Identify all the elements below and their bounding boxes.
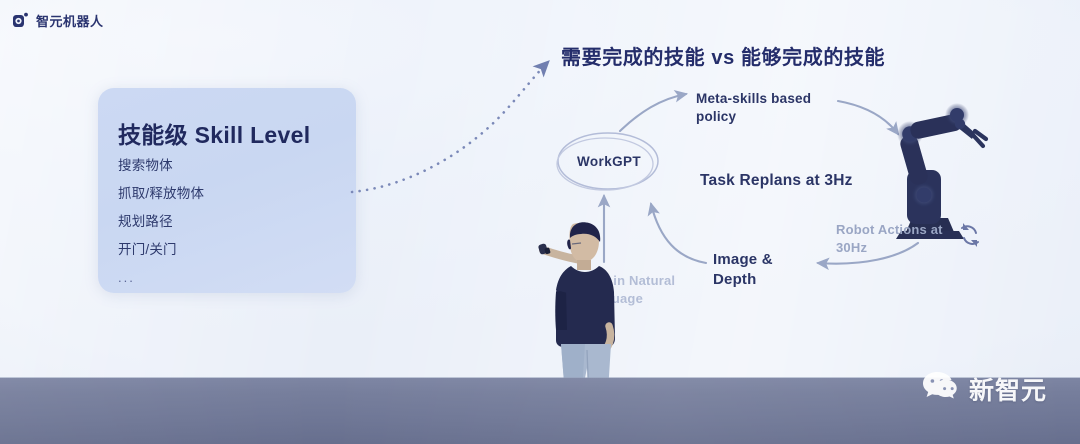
watermark: 新智元 [922,370,1047,407]
meta-skills-policy-label: Meta-skills based policy [696,90,836,125]
list-item: 抓取/释放物体 [118,182,204,202]
watermark-text: 新智元 [969,371,1047,407]
list-item: 搜索物体 [118,154,204,174]
robot-actions-line1: Robot Actions at [836,221,956,239]
image-depth-label: Image & Depth [713,250,773,291]
stage-floor-grain [0,378,1080,444]
slide-headline: 需要完成的技能 vs 能够完成的技能 [561,41,885,70]
image-depth-line2: Depth [713,270,773,290]
skill-card-list: 搜索物体 抓取/释放物体 规划路径 开门/关门 ... [118,154,204,285]
skill-card-title: 技能级 Skill Level [118,116,310,150]
brand-name: 智元机器人 [36,11,104,30]
meta-skills-policy-line1: Meta-skills based [696,90,836,108]
agibot-logo-icon [12,12,29,29]
task-replans-label: Task Replans at 3Hz [700,171,853,191]
image-depth-line1: Image & [713,250,773,270]
skill-level-card: 技能级 Skill Level 搜索物体 抓取/释放物体 规划路径 开门/关门 … [98,88,356,293]
list-item-ellipsis: ... [118,270,204,285]
robot-actions-line2: 30Hz [836,239,956,257]
brand-logo: 智元机器人 [12,11,104,30]
wechat-icon [922,370,962,407]
robot-actions-label: Robot Actions at 30Hz [836,221,956,256]
workgpt-label: WorkGPT [577,153,641,171]
slide-screenshot: 智元机器人 技能级 Skill Level 搜索物体 抓取/释放物体 规划路径 … [0,0,1080,444]
list-item: 开门/关门 [118,238,204,258]
list-item: 规划路径 [118,210,204,230]
meta-skills-policy-line2: policy [696,108,836,126]
